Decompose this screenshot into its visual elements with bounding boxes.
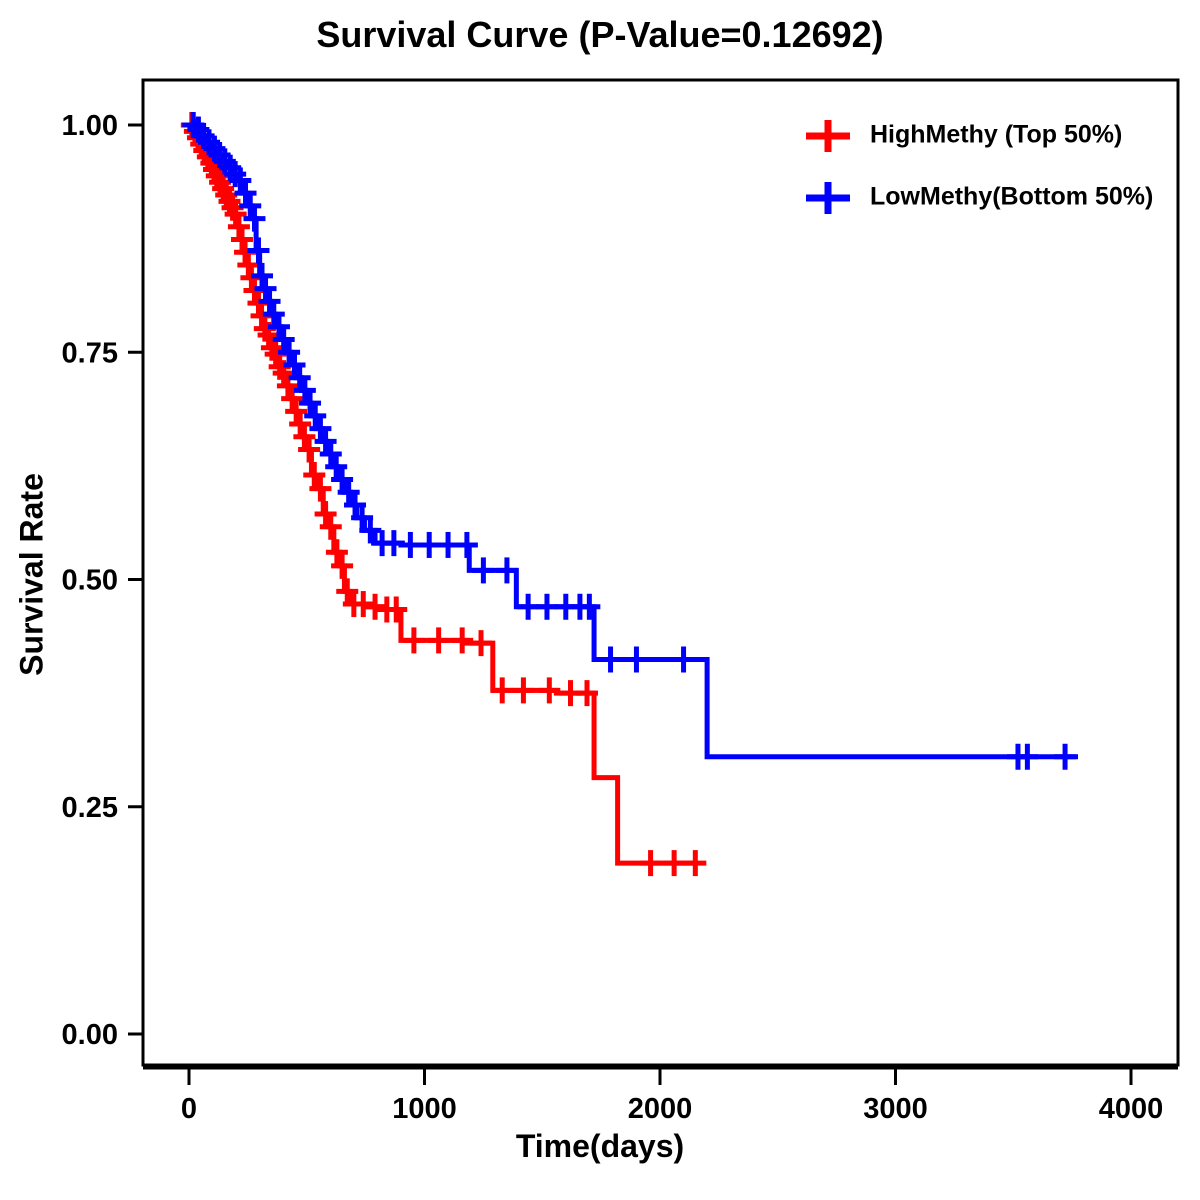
x-tick-label: 4000: [1099, 1093, 1164, 1125]
km-series-low-methy: [182, 112, 1078, 770]
legend-label: HighMethy (Top 50%): [870, 121, 1122, 149]
legend-label: LowMethy(Bottom 50%): [870, 183, 1153, 211]
y-tick-label: 0.50: [62, 565, 118, 597]
y-tick-label: 0.75: [62, 337, 118, 369]
panel-border: [143, 80, 1178, 1065]
y-tick-label: 0.25: [62, 792, 118, 824]
series-layer: [181, 112, 1078, 876]
x-tick-label: 1000: [392, 1093, 457, 1125]
x-tick-label: 3000: [863, 1093, 928, 1125]
km-series-high-methy: [181, 112, 706, 876]
legend-item[interactable]: LowMethy(Bottom 50%): [806, 182, 1153, 214]
y-tick-label: 1.00: [62, 110, 118, 142]
x-axis-ticks: 01000200030004000: [143, 1068, 1178, 1125]
x-tick-label: 2000: [628, 1093, 693, 1125]
plot-area: 0.000.250.500.751.00 01000200030004000 H…: [0, 0, 1200, 1200]
legend-item[interactable]: HighMethy (Top 50%): [806, 120, 1122, 152]
plot-panel: [143, 80, 1178, 1065]
survival-curve-figure: Survival Curve (P-Value=0.12692) Surviva…: [0, 0, 1200, 1200]
y-axis-ticks: 0.000.250.500.751.00: [62, 110, 143, 1051]
km-step-line: [189, 125, 695, 863]
chart-legend: HighMethy (Top 50%)LowMethy(Bottom 50%): [806, 120, 1153, 214]
y-tick-label: 0.00: [62, 1019, 118, 1051]
x-tick-label: 0: [181, 1093, 197, 1125]
